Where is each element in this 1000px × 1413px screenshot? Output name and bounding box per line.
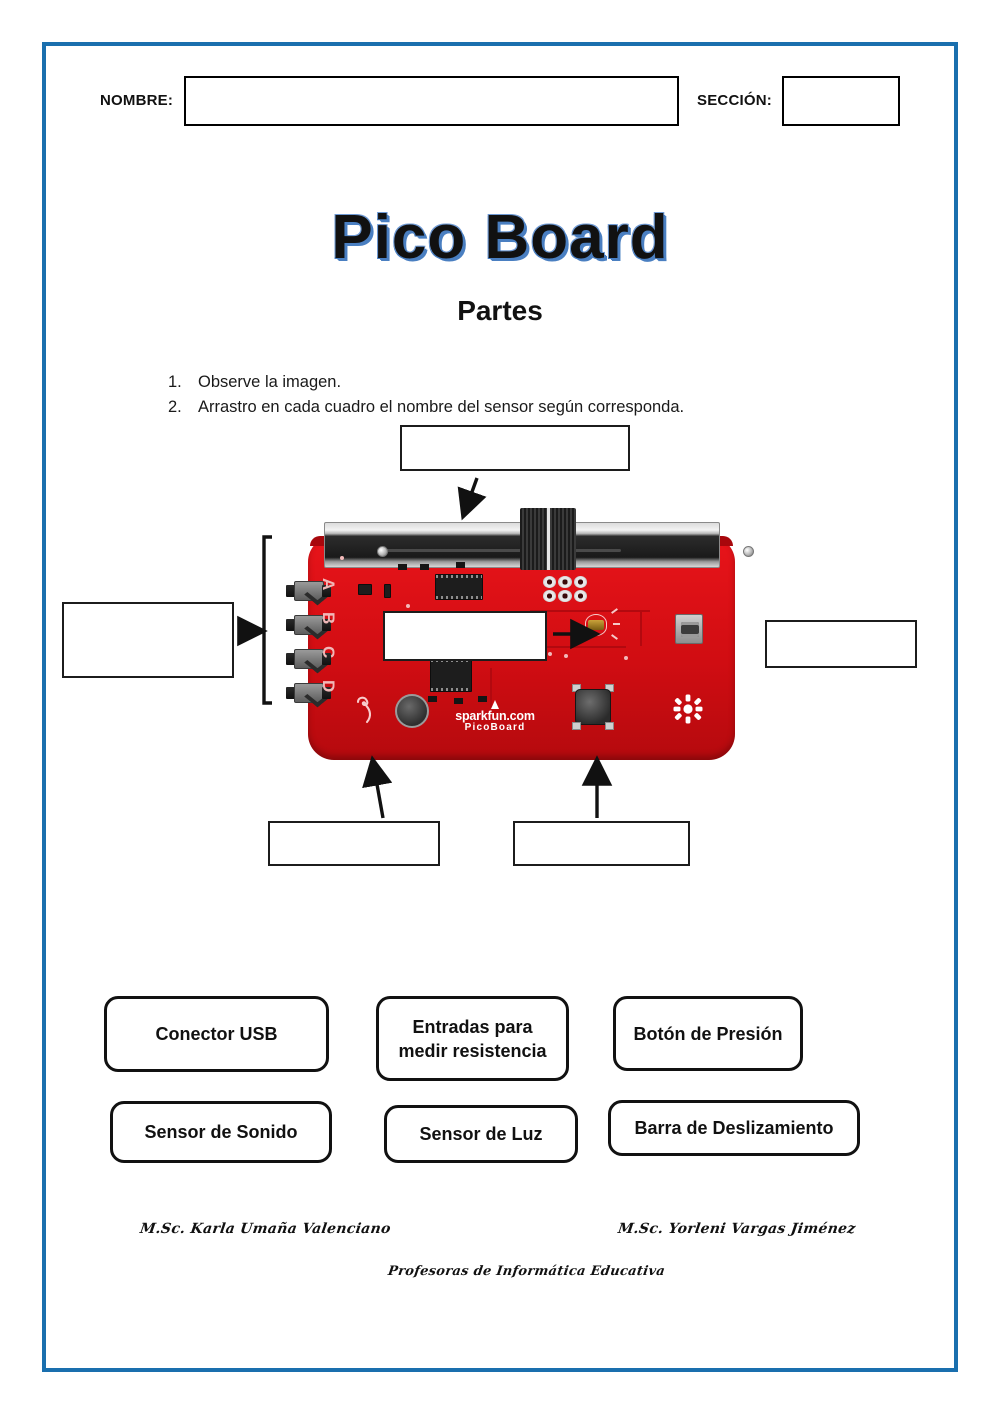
drop-box-inputs[interactable] — [62, 602, 234, 678]
pcb-trace — [530, 610, 650, 612]
sparkfun-product-text: PicoBoard — [440, 722, 550, 734]
instruction-item: 2. Arrastro en cada cuadro el nombre del… — [168, 395, 868, 420]
signature-role: Profesoras de Informática Educativa — [387, 1264, 666, 1279]
button-cap — [575, 689, 611, 725]
instruction-number: 2. — [168, 395, 198, 420]
sparkfun-flame-icon — [491, 700, 499, 709]
answer-chip-sensor-sonido[interactable]: Sensor de Sonido — [110, 1101, 332, 1163]
slider-screw-left — [377, 546, 388, 557]
page-subtitle: Partes — [0, 295, 1000, 327]
nombre-input[interactable] — [184, 76, 679, 126]
student-header: NOMBRE: SECCIÓN: — [100, 76, 900, 132]
button-leg — [572, 722, 581, 730]
seccion-label: SECCIÓN: — [697, 92, 772, 109]
microcontroller-chip — [435, 574, 483, 600]
connector-label-b: B — [318, 612, 338, 625]
connector-label-d: D — [318, 680, 338, 693]
pcb-trace — [640, 610, 642, 646]
smd-component — [358, 584, 372, 595]
sparkfun-flower-icon — [673, 694, 703, 724]
instruction-text: Arrastro en cada cuadro el nombre del se… — [198, 395, 868, 420]
sound-sensor-microphone — [395, 694, 429, 728]
answer-chip-sensor-luz[interactable]: Sensor de Luz — [384, 1105, 578, 1163]
page-title: Pico Board — [0, 202, 1000, 273]
support-chip — [430, 658, 472, 692]
pcb-via — [548, 652, 552, 656]
slider-slot — [381, 549, 621, 552]
sparkfun-domain-text: sparkfun.com — [440, 710, 550, 722]
connector-label-c: C — [318, 646, 338, 659]
light-sensor-ldr — [588, 620, 604, 630]
drop-box-slider[interactable] — [400, 425, 630, 471]
smd-component — [384, 584, 391, 598]
button-leg — [605, 722, 614, 730]
instruction-text: Observe la imagen. — [198, 370, 868, 395]
pcb-via — [340, 556, 344, 560]
pcb-via — [406, 604, 410, 608]
slider-knob-gap — [547, 508, 550, 570]
answer-chip-conector-usb[interactable]: Conector USB — [104, 996, 329, 1072]
instructions-list: 1. Observe la imagen. 2. Arrastro en cad… — [168, 370, 868, 420]
smd-component — [420, 564, 429, 570]
push-button-sensor — [570, 684, 616, 730]
signature-right: M.Sc. Yorleni Vargas Jiménez — [617, 1221, 857, 1237]
smd-component — [456, 562, 465, 568]
sparkfun-brand: sparkfun.com PicoBoard — [440, 700, 550, 734]
answer-chip-boton-presion[interactable]: Botón de Presión — [613, 996, 803, 1071]
smd-component — [428, 696, 437, 702]
smd-component — [398, 564, 407, 570]
signature-left: M.Sc. Karla Umaña Valenciano — [139, 1221, 392, 1237]
instruction-item: 1. Observe la imagen. — [168, 370, 868, 395]
light-ray-icon — [613, 623, 620, 625]
answer-chip-barra[interactable]: Barra de Deslizamiento — [608, 1100, 860, 1156]
pcb-via — [564, 654, 568, 658]
drop-box-push-button[interactable] — [513, 821, 690, 866]
light-sensor — [585, 614, 607, 636]
drop-box-sound-sensor[interactable] — [268, 821, 440, 866]
drop-box-usb[interactable] — [765, 620, 917, 668]
connector-label-a: A — [318, 578, 338, 591]
answer-chip-entradas[interactable]: Entradas para medir resistencia — [376, 996, 569, 1081]
pcb-via — [624, 656, 628, 660]
ear-silkscreen-icon — [352, 694, 382, 726]
slider-screw-right — [743, 546, 754, 557]
expansion-pin-header — [543, 576, 587, 602]
seccion-input[interactable] — [782, 76, 900, 126]
nombre-label: NOMBRE: — [100, 92, 173, 109]
drop-box-light-sensor[interactable] — [383, 611, 547, 661]
mini-usb-connector — [675, 614, 703, 644]
instruction-number: 1. — [168, 370, 198, 395]
